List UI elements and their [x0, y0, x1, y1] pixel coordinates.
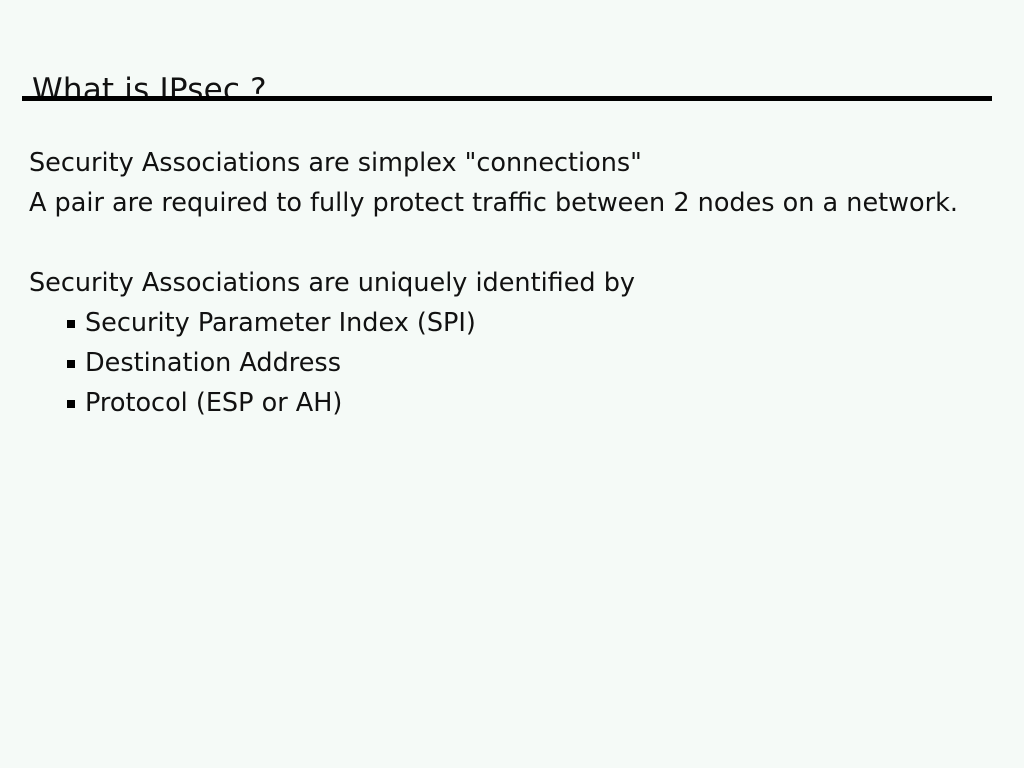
page-title: What is IPsec ? — [32, 71, 267, 109]
list-item-label: Destination Address — [85, 348, 341, 378]
paragraph-identifiers-line-1: Security Associations are uniquely ident… — [29, 263, 989, 303]
paragraph-intro: Security Associations are simplex "conne… — [29, 143, 989, 223]
slide-body: Security Associations are simplex "conne… — [29, 143, 989, 423]
paragraph-intro-line-1: Security Associations are simplex "conne… — [29, 143, 989, 183]
list-item: Security Parameter Index (SPI) — [29, 303, 989, 343]
list-item: Destination Address — [29, 343, 989, 383]
square-bullet-icon — [67, 320, 75, 328]
paragraph-spacer — [29, 223, 989, 263]
list-item: Protocol (ESP or AH) — [29, 383, 989, 423]
square-bullet-icon — [67, 400, 75, 408]
title-underline-rule — [22, 96, 992, 101]
list-item-label: Security Parameter Index (SPI) — [85, 308, 476, 338]
slide: What is IPsec ? Security Associations ar… — [0, 0, 1024, 768]
paragraph-identifiers: Security Associations are uniquely ident… — [29, 263, 989, 303]
identifier-bullet-list: Security Parameter Index (SPI) Destinati… — [29, 303, 989, 423]
square-bullet-icon — [67, 360, 75, 368]
list-item-label: Protocol (ESP or AH) — [85, 388, 342, 418]
paragraph-intro-line-2: A pair are required to fully protect tra… — [29, 183, 989, 223]
